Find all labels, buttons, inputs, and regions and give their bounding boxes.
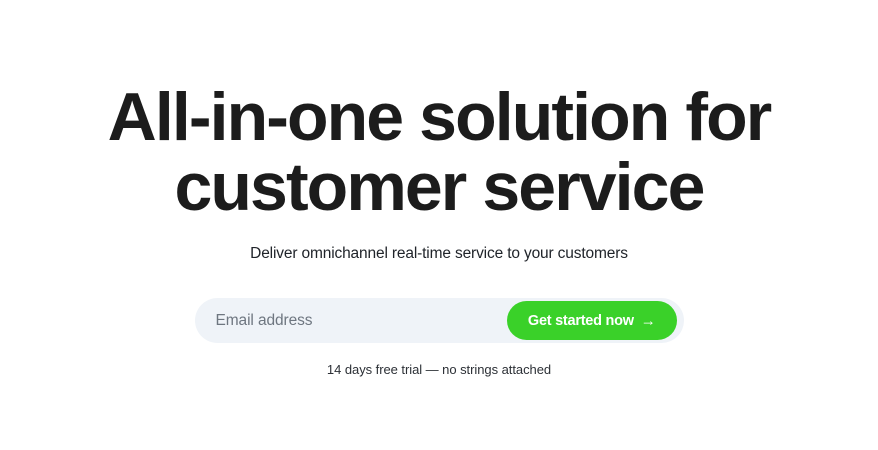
- trial-fineprint: 14 days free trial — no strings attached: [327, 343, 551, 378]
- email-input[interactable]: [195, 299, 507, 342]
- get-started-button-label: Get started now: [528, 313, 634, 329]
- hero-section: All-in-one solution for customer service…: [0, 0, 878, 450]
- page-title: All-in-one solution for customer service: [108, 0, 771, 222]
- signup-form: Get started now →: [195, 298, 684, 343]
- headline-line-1: All-in-one solution for: [108, 82, 771, 152]
- arrow-right-icon: →: [641, 314, 656, 329]
- get-started-button[interactable]: Get started now →: [507, 301, 677, 340]
- headline-line-2: customer service: [108, 152, 771, 222]
- hero-subtitle: Deliver omnichannel real-time service to…: [250, 222, 628, 264]
